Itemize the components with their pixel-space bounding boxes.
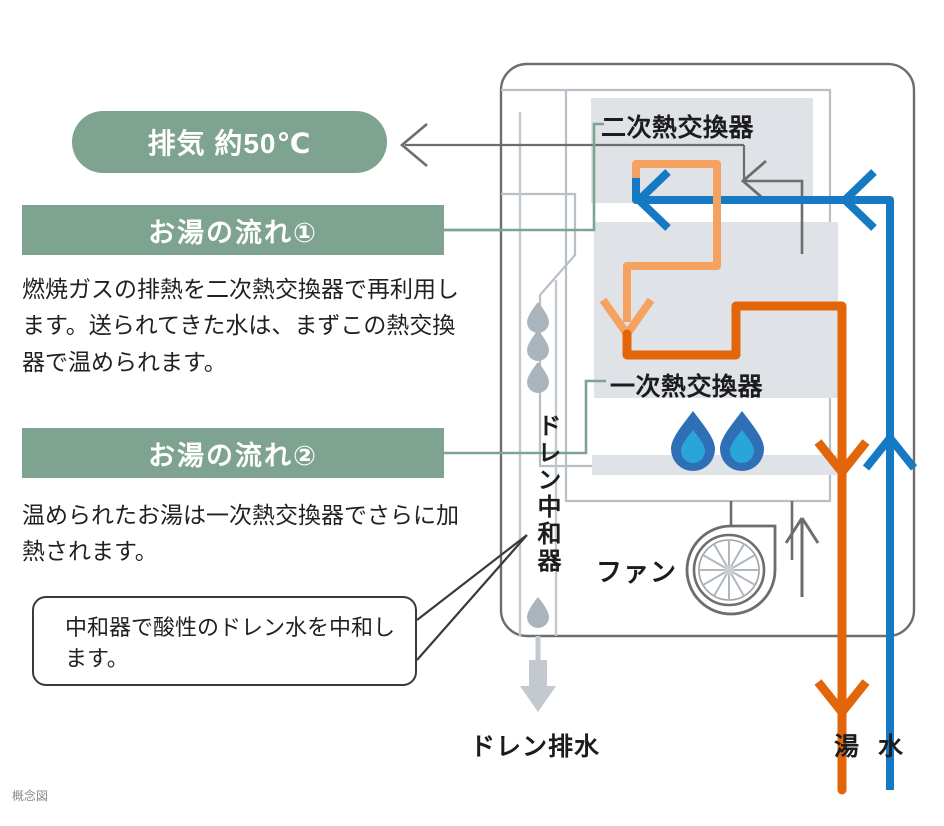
flow1-heading-bar: お湯の流れ① xyxy=(22,205,444,255)
burner-plate xyxy=(592,455,837,475)
primary-heat-exchanger-label: 一次熱交換器 xyxy=(610,367,763,403)
flow2-heading-label: お湯の流れ② xyxy=(148,434,318,473)
flow1-heading-label: お湯の流れ① xyxy=(148,211,318,250)
fan-hub xyxy=(724,565,734,575)
flow2-heading-bar: お湯の流れ② xyxy=(22,428,444,478)
exhaust-temperature-pill: 排気 約50℃ xyxy=(72,111,387,173)
drain-discharge-label: ドレン排水 xyxy=(470,727,600,763)
hot-cold-water-label: 湯 水 xyxy=(834,727,909,763)
flow1-body-text: 燃焼ガスの排熱を二次熱交換器で再利用します。送られてきた水は、まずこの熱交換器で… xyxy=(22,272,462,381)
fan-label: ファン xyxy=(596,552,677,589)
exhaust-pill-label: 排気 約50℃ xyxy=(148,122,312,162)
figure-caption: 概念図 xyxy=(12,787,48,804)
neutralizer-label: ドレン中和器 xyxy=(528,413,558,575)
drain-arrow-icon xyxy=(520,660,556,712)
flow2-body-text: 温められたお湯は一次熱交換器でさらに加熱されます。 xyxy=(22,498,462,571)
neutralizer-callout-text: 中和器で酸性のドレン水を中和します。 xyxy=(65,612,395,674)
secondary-heat-exchanger-label: 二次熱交換器 xyxy=(601,108,754,144)
